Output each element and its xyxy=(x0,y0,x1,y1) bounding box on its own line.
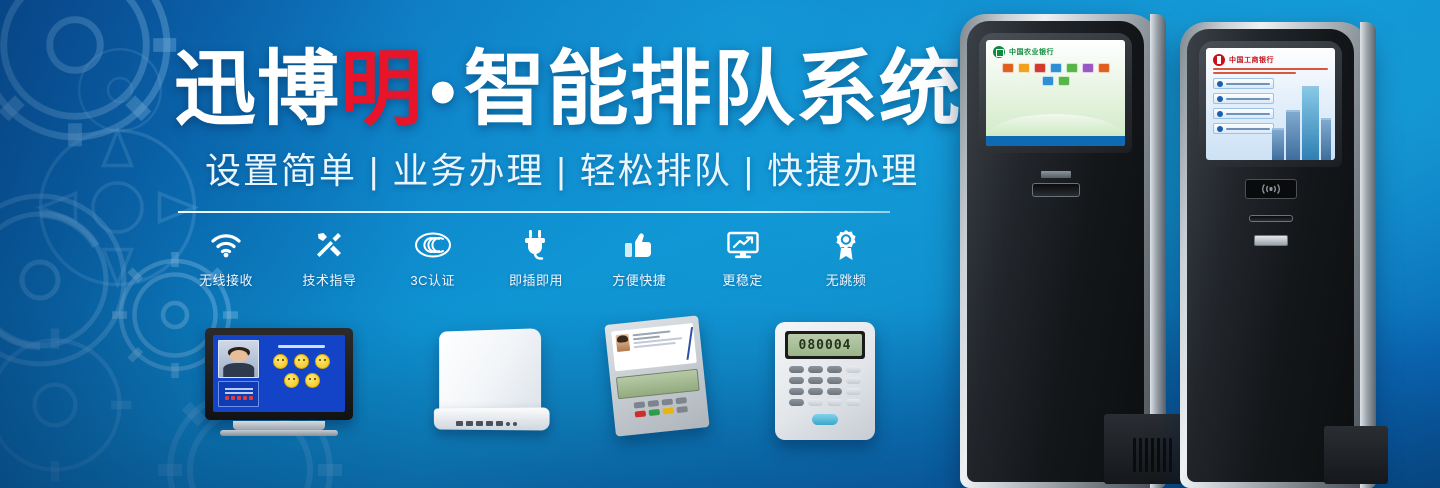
key xyxy=(808,377,823,384)
screen-footer-bar xyxy=(986,136,1125,146)
key xyxy=(827,366,842,373)
screen-subtitle xyxy=(1206,68,1335,74)
tools-icon xyxy=(281,228,377,262)
caller-lcd-frame: 080004 xyxy=(785,331,865,359)
monitor-rating-panel xyxy=(263,340,340,407)
kiosk-screen: 中国农业银行 xyxy=(986,40,1125,146)
emoji-face xyxy=(284,373,299,388)
bank-name: 中国农业银行 xyxy=(1009,47,1054,57)
key xyxy=(675,397,687,404)
ticket-slot xyxy=(1249,215,1293,222)
kiosk-brand-plate xyxy=(1041,171,1071,178)
title-separator: • xyxy=(423,58,464,131)
card-reader-icon xyxy=(1245,179,1297,199)
vent xyxy=(1157,438,1160,472)
port xyxy=(466,421,473,426)
kiosk-screen-frame: 中国农业银行 xyxy=(979,33,1132,153)
menu-label xyxy=(1226,128,1270,130)
port xyxy=(506,422,510,426)
key xyxy=(808,399,823,406)
feature-label: 方便快捷 xyxy=(591,270,687,289)
kiosk-badge-plate xyxy=(1254,235,1288,246)
kiosk-vents xyxy=(1133,438,1172,472)
feature-item-wifi: 无线接收 xyxy=(178,228,274,289)
star xyxy=(225,396,229,400)
monitor-staff-panel xyxy=(218,340,259,407)
service-icon xyxy=(1002,63,1014,73)
photo-face xyxy=(230,350,248,362)
feature-item-ccc: 3C认证 xyxy=(385,228,481,289)
service-icon xyxy=(1066,63,1078,73)
key xyxy=(789,377,804,384)
kiosk-face: 中国农业银行 xyxy=(967,21,1144,482)
nameplate-photo xyxy=(615,334,630,352)
nameplate-text xyxy=(632,327,692,365)
feature-label: 3C认证 xyxy=(385,270,481,289)
rating-stars xyxy=(225,396,253,400)
key xyxy=(647,400,659,407)
port xyxy=(513,422,517,426)
title-part-2: 智能排队系统 xyxy=(464,42,962,137)
port xyxy=(486,421,493,426)
emoji-face xyxy=(294,354,309,369)
vent xyxy=(1145,438,1148,472)
key-row xyxy=(785,366,865,373)
key xyxy=(827,388,842,395)
monitor-screen xyxy=(213,335,345,412)
wifi-icon xyxy=(178,228,274,262)
bank-name: 中国工商银行 xyxy=(1229,55,1274,65)
key-row xyxy=(785,399,865,406)
vent xyxy=(1163,438,1166,472)
kiosk-screen: 中国工商银行 xyxy=(1206,48,1335,160)
monitor-foot xyxy=(220,430,338,436)
key-red xyxy=(634,410,646,417)
star xyxy=(237,396,241,400)
power-plug-icon xyxy=(488,228,584,262)
icbc-bank-logo-icon xyxy=(1213,54,1225,66)
menu-label xyxy=(1226,83,1270,85)
feature-item-nohop: 无跳频 xyxy=(798,228,894,289)
key-green xyxy=(648,409,660,416)
menu-item xyxy=(1213,123,1274,134)
award-ribbon-icon xyxy=(798,228,894,262)
feature-label: 无跳频 xyxy=(798,270,894,289)
divider xyxy=(178,211,890,213)
service-icon xyxy=(1042,76,1054,86)
vent xyxy=(1133,438,1136,472)
service-icon xyxy=(1098,63,1110,73)
port xyxy=(456,421,463,426)
service-icon xyxy=(1034,63,1046,73)
star xyxy=(231,396,235,400)
kiosk-base xyxy=(1104,414,1182,484)
key xyxy=(808,388,823,395)
subtitle: 设置简单 | 业务办理 | 轻松排队 | 快捷办理 xyxy=(205,146,905,196)
key xyxy=(827,377,842,384)
info-line xyxy=(225,388,253,390)
emoji-face xyxy=(305,373,320,388)
service-icon xyxy=(1058,76,1070,86)
evaluator-lcd xyxy=(616,369,700,399)
menu-label xyxy=(1226,98,1270,100)
feature-label: 技术指导 xyxy=(281,270,377,289)
page-title: 迅博明•智能排队系统 xyxy=(174,42,904,143)
key xyxy=(633,401,645,408)
star xyxy=(249,396,253,400)
caller-lcd: 080004 xyxy=(788,334,862,356)
vent xyxy=(1151,438,1154,472)
menu-item xyxy=(1213,108,1274,119)
key xyxy=(846,366,861,373)
feature-list: 无线接收 技术指导 xyxy=(178,228,894,290)
key-yellow xyxy=(662,408,674,415)
star xyxy=(243,396,247,400)
title-part-1: 迅博 xyxy=(174,42,340,137)
key xyxy=(789,366,804,373)
kiosk-side-pillar xyxy=(1360,22,1376,488)
key-row xyxy=(785,377,865,384)
emoji-face xyxy=(273,354,288,369)
key-row xyxy=(785,388,865,395)
info-line xyxy=(225,392,253,394)
service-icon-grid xyxy=(986,63,1125,86)
key xyxy=(846,377,861,384)
building xyxy=(1302,86,1319,160)
vent xyxy=(1169,438,1172,472)
caller-enter-key xyxy=(812,414,838,425)
feature-item-stable: 更稳定 xyxy=(695,228,791,289)
kiosk-base xyxy=(1324,426,1388,484)
service-icon xyxy=(1082,63,1094,73)
rating-prompt xyxy=(278,345,325,348)
product-showcase: 080004 xyxy=(0,300,920,460)
host-body xyxy=(439,328,541,416)
ticket-slot xyxy=(1032,183,1080,197)
monitor-chart-icon xyxy=(695,228,791,262)
product-kiosk-abc: 中国农业银行 xyxy=(960,14,1160,488)
caller-body: 080004 xyxy=(775,322,875,440)
building xyxy=(1272,128,1284,160)
screen-menu-list xyxy=(1206,78,1281,134)
monitor-bezel xyxy=(205,328,353,420)
key xyxy=(808,366,823,373)
building xyxy=(1321,118,1331,160)
key xyxy=(789,388,804,395)
feature-item-plugplay: 即插即用 xyxy=(488,228,584,289)
host-ports xyxy=(456,421,517,426)
staff-photo xyxy=(218,340,259,378)
menu-item xyxy=(1213,93,1274,104)
product-caller-keypad: 080004 xyxy=(775,322,875,444)
emoji-face xyxy=(315,354,330,369)
feature-item-convenient: 方便快捷 xyxy=(591,228,687,289)
bank-header: 中国农业银行 xyxy=(986,40,1125,60)
bank-header: 中国工商银行 xyxy=(1206,48,1335,68)
feature-label: 更稳定 xyxy=(695,270,791,289)
evaluator-keys xyxy=(619,396,702,419)
service-icon xyxy=(1018,63,1030,73)
thumbs-up-icon xyxy=(591,228,687,262)
key xyxy=(789,399,804,406)
product-monitor xyxy=(205,328,353,436)
key xyxy=(827,399,842,406)
subtitle-line xyxy=(1213,72,1296,74)
product-host-unit xyxy=(430,330,548,434)
ccc-certification-icon xyxy=(385,228,481,262)
key xyxy=(676,406,688,413)
port xyxy=(496,421,503,426)
promo-banner: 迅博明•智能排队系统 设置简单 | 业务办理 | 轻松排队 | 快捷办理 无线接… xyxy=(0,0,1440,488)
photo-body xyxy=(223,363,255,377)
product-desktop-evaluator xyxy=(600,318,716,440)
feature-label: 无线接收 xyxy=(178,270,274,289)
menu-item xyxy=(1213,78,1274,89)
staff-info xyxy=(218,381,259,407)
subtitle-line xyxy=(1213,68,1328,70)
caller-keypad xyxy=(785,366,865,406)
key xyxy=(661,399,673,406)
vent xyxy=(1139,438,1142,472)
port xyxy=(476,421,483,426)
kiosk-screen-frame: 中国工商银行 xyxy=(1199,41,1342,167)
service-icon xyxy=(1050,63,1062,73)
monitor-stand xyxy=(233,421,325,430)
kiosk-face: 中国工商银行 xyxy=(1187,29,1354,482)
feature-item-support: 技术指导 xyxy=(281,228,377,289)
title-highlight: 明 xyxy=(340,42,423,137)
menu-label xyxy=(1226,113,1270,115)
key xyxy=(846,388,861,395)
evaluator-panel xyxy=(604,315,709,436)
key xyxy=(846,399,861,406)
feature-label: 即插即用 xyxy=(488,270,584,289)
abc-bank-logo-icon xyxy=(993,46,1005,58)
building-graphic xyxy=(1272,79,1331,160)
product-kiosk-icbc: 中国工商银行 xyxy=(1180,22,1370,488)
emoji-rating-group xyxy=(267,354,337,388)
evaluator-nameplate xyxy=(611,323,697,371)
caller-display-value: 080004 xyxy=(799,338,852,353)
building xyxy=(1286,110,1300,160)
host-base xyxy=(434,407,550,430)
